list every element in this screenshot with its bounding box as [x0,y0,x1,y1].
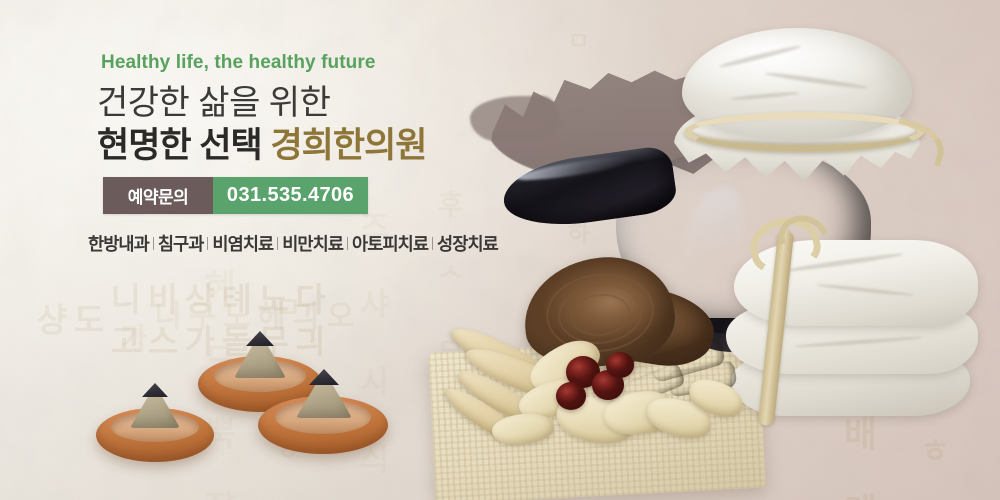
vignette-overlay [0,0,1000,500]
clinic-promo-banner: 다긔 노무 톄돌 샹가 비스 니고 도 샹 오 긔 헤 노 구 니 가 혜 도 … [0,0,1000,500]
